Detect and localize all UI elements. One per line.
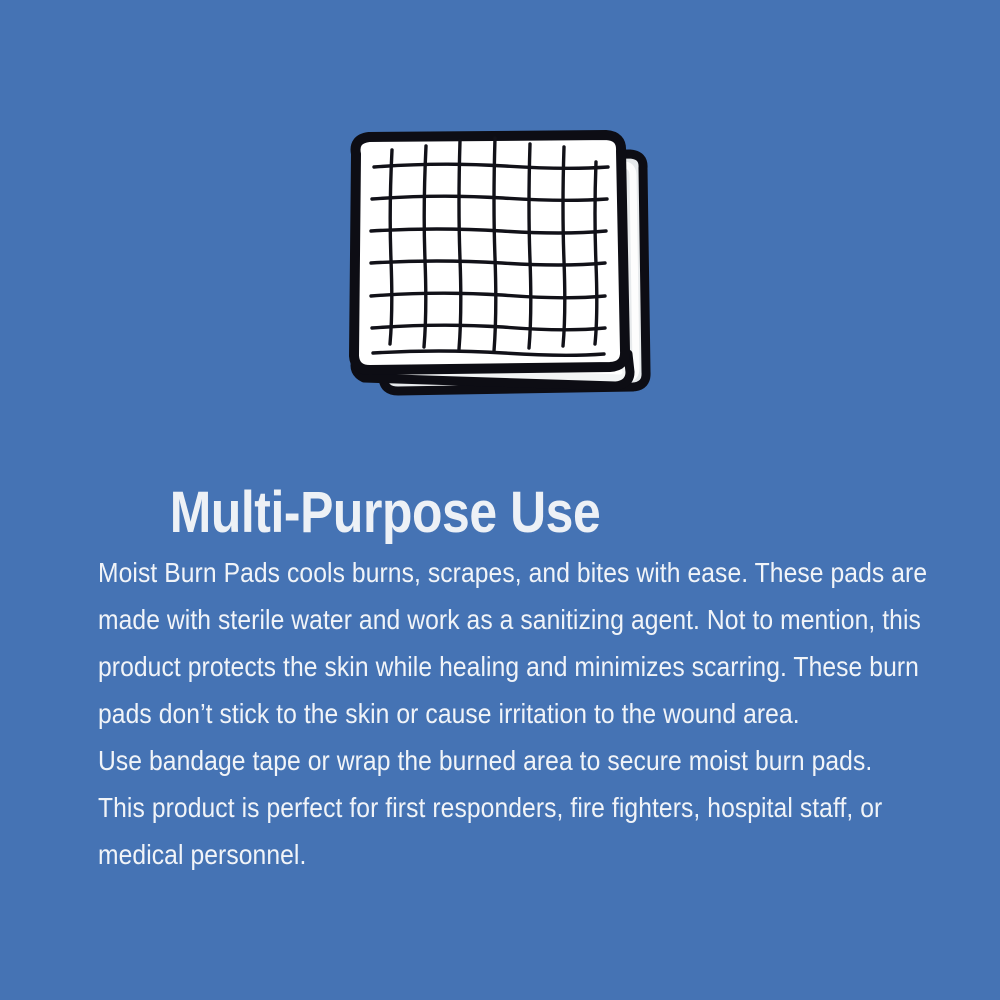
page-title: Multi-Purpose Use xyxy=(54,482,716,544)
body-copy: Moist Burn Pads cools burns, scrapes, an… xyxy=(98,549,928,878)
burn-pad-gauze-illustration xyxy=(330,110,670,420)
body-paragraph: Use bandage tape or wrap the burned area… xyxy=(98,737,928,784)
body-paragraph: This product is perfect for first respon… xyxy=(98,784,928,878)
front-pad-layer xyxy=(354,135,625,370)
product-feature-card: Multi-Purpose Use Moist Burn Pads cools … xyxy=(0,0,1000,1000)
body-paragraph: Moist Burn Pads cools burns, scrapes, an… xyxy=(98,549,928,737)
